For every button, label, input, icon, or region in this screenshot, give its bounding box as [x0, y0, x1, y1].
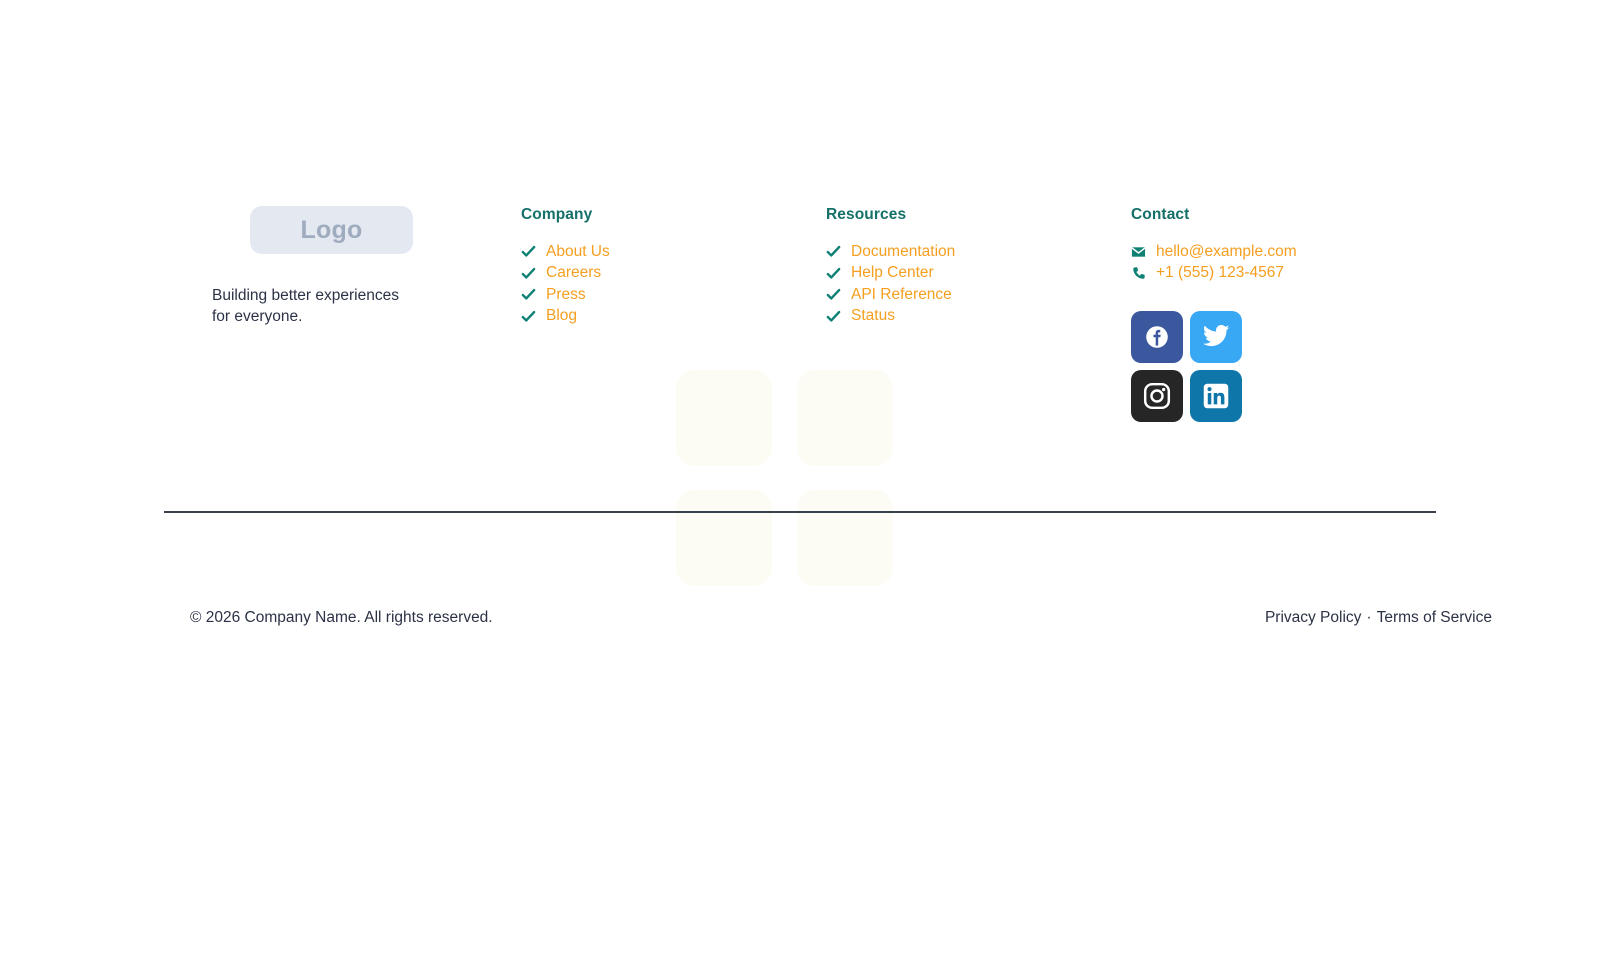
linkedin-icon	[1202, 382, 1230, 410]
check-icon	[521, 309, 536, 324]
resources-link-list: Documentation Help Center API Reference	[826, 241, 955, 327]
social-links	[1131, 311, 1297, 422]
twitter-button[interactable]	[1190, 311, 1242, 363]
privacy-policy-link[interactable]: Privacy Policy	[1265, 609, 1361, 627]
list-item[interactable]: About Us	[521, 241, 610, 263]
list-item[interactable]: +1 (555) 123-4567	[1131, 263, 1297, 285]
instagram-icon	[1143, 382, 1171, 410]
list-item[interactable]: Press	[521, 284, 610, 306]
sidebar-item-label[interactable]: Help Center	[851, 264, 934, 282]
envelope-icon	[1131, 244, 1146, 259]
contact-email-label[interactable]: hello@example.com	[1156, 243, 1297, 261]
resources-column: Resources Documentation Help Center	[826, 206, 955, 327]
check-icon	[826, 244, 841, 259]
logo-placeholder[interactable]: Logo	[250, 206, 413, 254]
legal-links: Privacy Policy · Terms of Service	[1265, 609, 1492, 627]
list-item[interactable]: Help Center	[826, 263, 955, 285]
sidebar-item-label[interactable]: API Reference	[851, 286, 952, 304]
sidebar-item-label[interactable]: Status	[851, 307, 895, 325]
facebook-icon	[1142, 322, 1172, 352]
instagram-button[interactable]	[1131, 370, 1183, 422]
phone-icon	[1131, 266, 1146, 281]
check-icon	[826, 287, 841, 302]
legal-separator: ·	[1366, 609, 1371, 627]
twitter-icon	[1201, 324, 1231, 350]
copyright-text: © 2026 Company Name. All rights reserved…	[190, 609, 493, 627]
footer-main-columns: Logo Building better experiences for eve…	[0, 0, 1600, 520]
check-icon	[521, 266, 536, 281]
sidebar-item-label[interactable]: Blog	[546, 307, 577, 325]
footer-page: Logo Building better experiences for eve…	[0, 0, 1600, 978]
sidebar-item-label[interactable]: Documentation	[851, 243, 955, 261]
facebook-button[interactable]	[1131, 311, 1183, 363]
footer-divider	[164, 511, 1436, 513]
brand-column: Logo Building better experiences for eve…	[212, 206, 492, 327]
contact-column-heading: Contact	[1131, 206, 1297, 224]
resources-column-heading: Resources	[826, 206, 955, 224]
check-icon	[826, 309, 841, 324]
footer-bottom-bar: © 2026 Company Name. All rights reserved…	[164, 596, 1436, 640]
linkedin-button[interactable]	[1190, 370, 1242, 422]
list-item[interactable]: API Reference	[826, 284, 955, 306]
contact-link-list: hello@example.com +1 (555) 123-4567	[1131, 241, 1297, 284]
sidebar-item-label[interactable]: Press	[546, 286, 586, 304]
logo-label: Logo	[301, 216, 363, 245]
check-icon	[521, 244, 536, 259]
company-column: Company About Us Careers	[521, 206, 610, 327]
list-item[interactable]: Careers	[521, 263, 610, 285]
terms-of-service-link[interactable]: Terms of Service	[1377, 609, 1492, 627]
contact-phone-label[interactable]: +1 (555) 123-4567	[1156, 264, 1284, 282]
check-icon	[826, 266, 841, 281]
sidebar-item-label[interactable]: About Us	[546, 243, 610, 261]
check-icon	[521, 287, 536, 302]
company-column-heading: Company	[521, 206, 610, 224]
list-item[interactable]: Status	[826, 306, 955, 328]
list-item[interactable]: Blog	[521, 306, 610, 328]
list-item[interactable]: Documentation	[826, 241, 955, 263]
brand-tagline: Building better experiences for everyone…	[212, 285, 412, 327]
company-link-list: About Us Careers Press	[521, 241, 610, 327]
sidebar-item-label[interactable]: Careers	[546, 264, 601, 282]
contact-column: Contact hello@example.com +1 (555) 123-4…	[1131, 206, 1297, 422]
list-item[interactable]: hello@example.com	[1131, 241, 1297, 263]
